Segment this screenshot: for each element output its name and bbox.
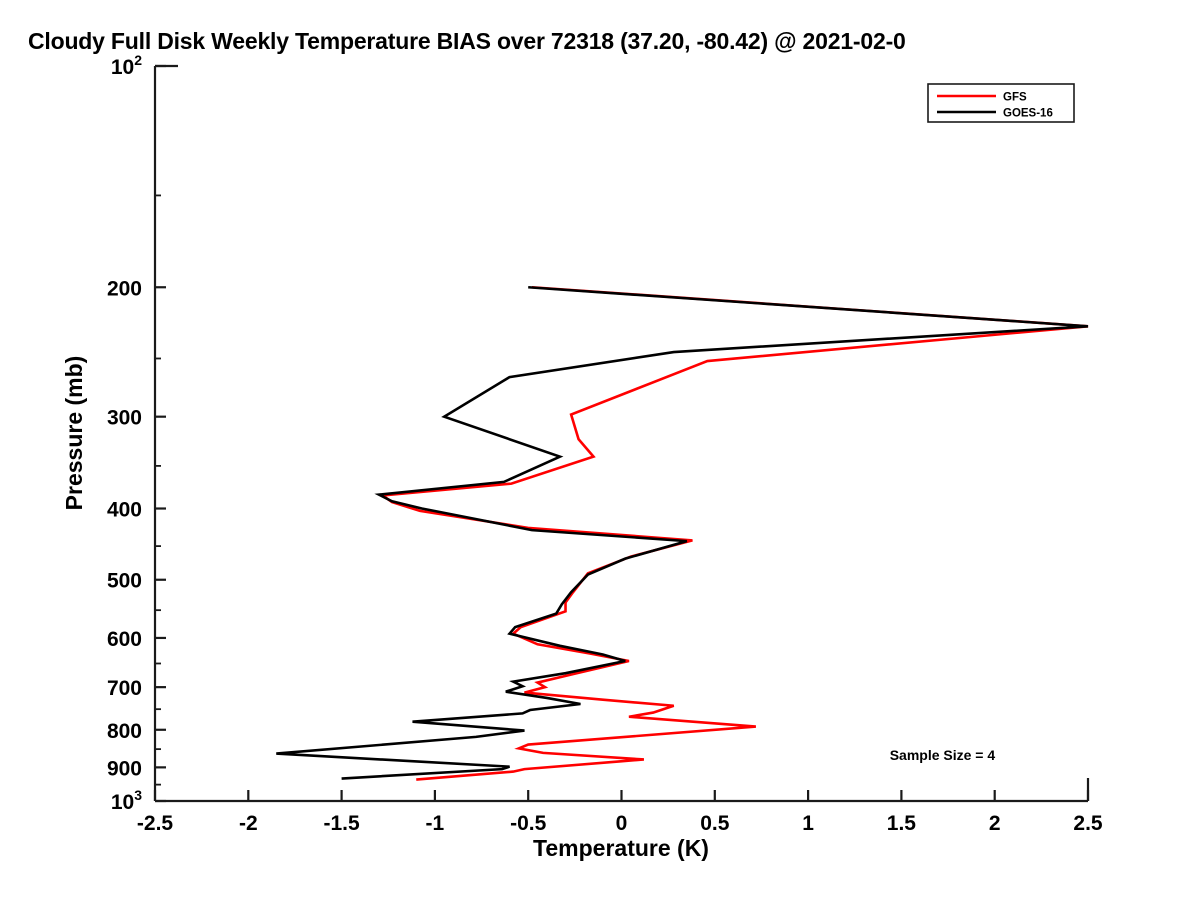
y-axis-title: Pressure (mb) <box>61 356 87 511</box>
legend-label-goes-16[interactable]: GOES-16 <box>1003 108 1053 120</box>
y-tick-label: 600 <box>107 628 142 651</box>
annotations-group: Sample Size = 4 <box>890 747 996 763</box>
y-tick-label: 900 <box>107 757 142 780</box>
legend[interactable]: GFSGOES-16 <box>928 84 1074 122</box>
x-axis-title: Temperature (K) <box>533 835 709 861</box>
series-line-gfs <box>383 287 1088 779</box>
temperature-bias-profile-chart: -2.5-2-1.5-1-0.500.511.522.5 10220030040… <box>0 0 1200 900</box>
y-axis-ticks: 102200300400500600700800900103 <box>107 52 166 814</box>
x-axis-ticks: -2.5-2-1.5-1-0.500.511.522.5 <box>137 790 1103 835</box>
y-tick-label: 500 <box>107 570 142 593</box>
x-tick-label: -0.5 <box>510 812 547 835</box>
y-tick-label: 200 <box>107 277 142 300</box>
x-tick-label: 0 <box>616 812 628 835</box>
x-tick-label: -2 <box>239 812 258 835</box>
y-tick-label: 102 <box>111 52 142 79</box>
x-tick-label: -1.5 <box>324 812 361 835</box>
y-tick-label: 103 <box>111 787 142 814</box>
x-tick-label: -2.5 <box>137 812 174 835</box>
legend-label-gfs[interactable]: GFS <box>1003 92 1027 104</box>
axes-frame <box>155 66 1088 801</box>
x-tick-label: 2 <box>989 812 1001 835</box>
x-tick-label: 0.5 <box>700 812 730 835</box>
y-tick-label: 300 <box>107 407 142 430</box>
data-series-group <box>276 287 1088 779</box>
y-tick-label: 400 <box>107 499 142 522</box>
x-tick-label: 1 <box>802 812 814 835</box>
series-line-goes-16 <box>276 287 1088 778</box>
y-tick-label: 800 <box>107 720 142 743</box>
x-tick-label: 2.5 <box>1073 812 1103 835</box>
y-tick-label: 700 <box>107 677 142 700</box>
x-tick-label: -1 <box>426 812 445 835</box>
sample-size-annotation: Sample Size = 4 <box>890 747 996 763</box>
x-tick-label: 1.5 <box>887 812 917 835</box>
figure-canvas: Cloudy Full Disk Weekly Temperature BIAS… <box>0 0 1200 900</box>
